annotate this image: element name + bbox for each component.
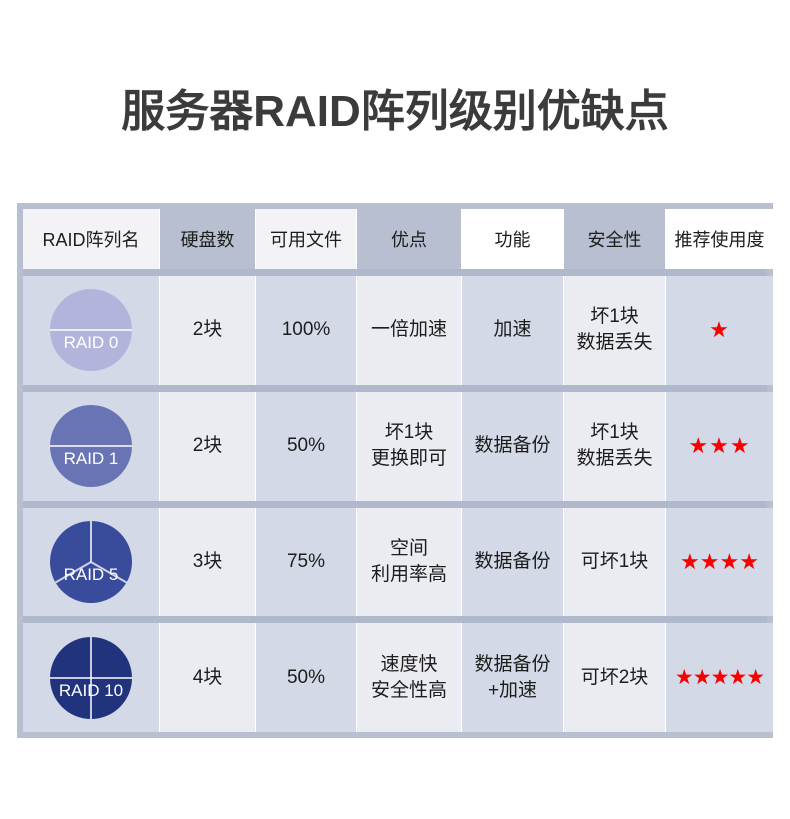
cell-function: 数据备份 +加速 bbox=[462, 623, 563, 732]
column-header-raid-name: RAID阵列名 bbox=[23, 209, 159, 269]
row-separator bbox=[23, 616, 767, 623]
page-title: 服务器RAID阵列级别优缺点 bbox=[0, 84, 790, 140]
cell-disk-count: 3块 bbox=[160, 508, 255, 617]
rating-stars: ★★★★★ bbox=[675, 667, 764, 688]
cell-recommendation: ★★★★ bbox=[666, 508, 773, 617]
cell-usable-capacity: 50% bbox=[256, 392, 356, 501]
column-header-disk-count: 硬盘数 bbox=[160, 209, 255, 269]
cell-safety: 可坏1块 bbox=[564, 508, 665, 617]
raid-diagram-cell: RAID 5 bbox=[23, 508, 159, 617]
cell-recommendation: ★ bbox=[666, 276, 773, 385]
circle-split-line bbox=[50, 445, 132, 447]
cell-advantage: 坏1块 更换即可 bbox=[357, 392, 461, 501]
cell-disk-count: 4块 bbox=[160, 623, 255, 732]
raid-diagram-cell: RAID 10 bbox=[23, 623, 159, 732]
circle-split-line bbox=[90, 521, 92, 562]
column-header-safety: 安全性 bbox=[564, 209, 665, 269]
row-separator bbox=[23, 501, 767, 508]
row-separator bbox=[23, 269, 767, 276]
table-row: RAID 0 2块 100% 一倍加速 加速 坏1块 数据丢失 ★ bbox=[23, 276, 767, 385]
raid-table: RAID阵列名 硬盘数 可用文件 优点 功能 安全性 推荐使用度 bbox=[23, 209, 767, 732]
row-separator bbox=[23, 385, 767, 392]
circle-split-line bbox=[50, 329, 132, 331]
raid-disk-circle-icon: RAID 1 bbox=[50, 405, 132, 487]
column-header-function: 功能 bbox=[462, 209, 563, 269]
raid-table-frame: RAID阵列名 硬盘数 可用文件 优点 功能 安全性 推荐使用度 bbox=[17, 203, 773, 738]
raid-disk-circle-icon: RAID 10 bbox=[50, 637, 132, 719]
cell-safety: 坏1块 数据丢失 bbox=[564, 392, 665, 501]
rating-stars: ★ bbox=[709, 319, 730, 341]
cell-advantage: 空间 利用率高 bbox=[357, 508, 461, 617]
rating-stars: ★★★ bbox=[688, 435, 750, 457]
rating-stars: ★★★★ bbox=[680, 551, 759, 573]
raid-comparison-infographic: 服务器RAID阵列级别优缺点 RAID阵列名 硬盘数 可用文件 优点 功能 安全… bbox=[0, 0, 790, 819]
cell-function: 数据备份 bbox=[462, 392, 563, 501]
cell-recommendation: ★★★ bbox=[666, 392, 773, 501]
cell-advantage: 一倍加速 bbox=[357, 276, 461, 385]
cell-recommendation: ★★★★★ bbox=[666, 623, 773, 732]
table-row: RAID 5 3块 75% 空间 利用率高 数据备份 可坏1块 ★★★★ bbox=[23, 508, 767, 617]
raid-name-label: RAID 5 bbox=[50, 564, 132, 586]
cell-usable-capacity: 50% bbox=[256, 623, 356, 732]
cell-function: 数据备份 bbox=[462, 508, 563, 617]
column-header-advantage: 优点 bbox=[357, 209, 461, 269]
table-header-row: RAID阵列名 硬盘数 可用文件 优点 功能 安全性 推荐使用度 bbox=[23, 209, 767, 269]
raid-name-label: RAID 0 bbox=[50, 332, 132, 354]
cell-safety: 可坏2块 bbox=[564, 623, 665, 732]
raid-diagram-cell: RAID 0 bbox=[23, 276, 159, 385]
raid-diagram-cell: RAID 1 bbox=[23, 392, 159, 501]
raid-disk-circle-icon: RAID 0 bbox=[50, 289, 132, 371]
cell-function: 加速 bbox=[462, 276, 563, 385]
cell-usable-capacity: 100% bbox=[256, 276, 356, 385]
column-header-recommendation: 推荐使用度 bbox=[666, 209, 773, 269]
cell-advantage: 速度快 安全性高 bbox=[357, 623, 461, 732]
cell-disk-count: 2块 bbox=[160, 276, 255, 385]
column-header-usable-capacity: 可用文件 bbox=[256, 209, 356, 269]
raid-name-label: RAID 10 bbox=[50, 680, 132, 702]
table-row: RAID 1 2块 50% 坏1块 更换即可 数据备份 坏1块 数据丢失 ★★★ bbox=[23, 392, 767, 501]
raid-disk-circle-icon: RAID 5 bbox=[50, 521, 132, 603]
raid-name-label: RAID 1 bbox=[50, 448, 132, 470]
table-row: RAID 10 4块 50% 速度快 安全性高 数据备份 +加速 可坏2块 ★★… bbox=[23, 623, 767, 732]
cell-usable-capacity: 75% bbox=[256, 508, 356, 617]
cell-disk-count: 2块 bbox=[160, 392, 255, 501]
cell-safety: 坏1块 数据丢失 bbox=[564, 276, 665, 385]
circle-split-line bbox=[90, 637, 92, 719]
